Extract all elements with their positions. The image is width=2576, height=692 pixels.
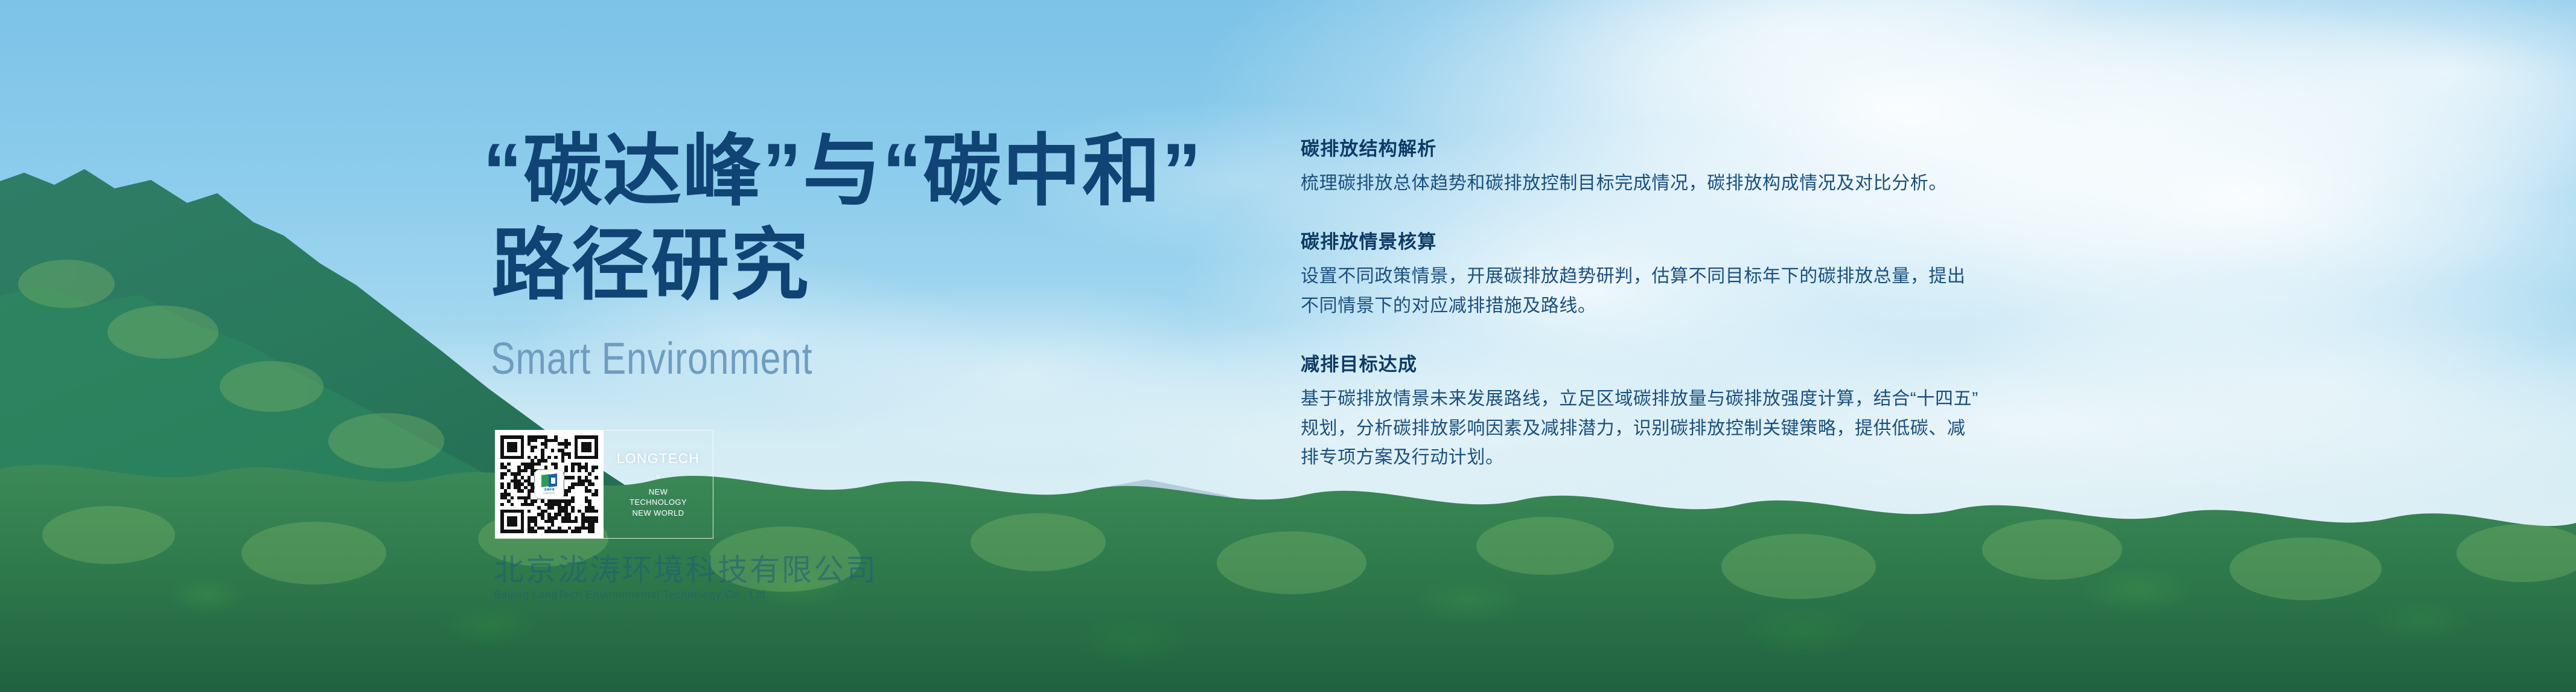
page-subtitle: Smart Environment	[483, 333, 1126, 384]
logo-caption: 泷涛环境 LONGTECH	[543, 488, 555, 495]
info-blocks-column: 碳排放结构解析梳理碳排放总体趋势和碳排放控制目标完成情况，碳排放构成情况及对比分…	[1301, 138, 2194, 473]
page-title-line-1: “碳达峰”与“碳中和”	[483, 124, 1267, 218]
info-body-line: 规划，分析碳排放影响因素及减排潜力，识别碳排放控制关键策略，提供低碳、减	[1301, 414, 2194, 444]
company-signature: 北京泷涛环境科技有限公司 Beijing LongTech Environmen…	[494, 554, 1037, 601]
info-block-body: 基于碳排放情景未来发展路线，立足区域碳排放量与碳排放强度计算，结合“十四五”规划…	[1301, 385, 2194, 473]
info-block-body: 梳理碳排放总体趋势和碳排放控制目标完成情况，碳排放构成情况及对比分析。	[1301, 169, 2194, 199]
brand-separator-icon: ×	[655, 472, 661, 482]
info-body-line: 排专项方案及行动计划。	[1301, 443, 2194, 473]
company-name-cn: 北京泷涛环境科技有限公司	[494, 554, 1037, 586]
info-block-heading: 减排目标达成	[1301, 353, 2194, 377]
qr-brand-group: 泷涛环境 LONGTECH LONGTECH × NEW TECHNOLOGY …	[495, 430, 713, 539]
carbon-peak-banner: “碳达峰”与“碳中和” 路径研究 Smart Environment 泷涛环境 …	[0, 0, 2576, 692]
info-block-heading: 碳排放结构解析	[1301, 138, 2194, 161]
logo-mark-shape	[541, 474, 557, 487]
info-block-body: 设置不同政策情景，开展碳排放趋势研判，估算不同目标年下的碳排放总量，提出不同情景…	[1301, 262, 2194, 321]
page-title-line-2: 路径研究	[483, 218, 1267, 312]
tree-canopy-texture	[0, 438, 2576, 692]
company-name-en: Beijing LongTech Environmental Technolog…	[494, 589, 1037, 601]
brand-slogan: NEW TECHNOLOGY NEW WORLD	[630, 487, 687, 519]
info-body-line: 基于碳排放情景未来发展路线，立足区域碳排放量与碳排放强度计算，结合“十四五”	[1301, 385, 2194, 414]
info-block: 减排目标达成基于碳排放情景未来发展路线，立足区域碳排放量与碳排放强度计算，结合“…	[1301, 353, 2194, 473]
qr-code-card[interactable]: 泷涛环境 LONGTECH	[495, 430, 604, 539]
info-body-line: 不同情景下的对应减排措施及路线。	[1301, 292, 2194, 321]
info-body-line: 梳理碳排放总体趋势和碳排放控制目标完成情况，碳排放构成情况及对比分析。	[1301, 169, 2194, 199]
info-block: 碳排放情景核算设置不同政策情景，开展碳排放趋势研判，估算不同目标年下的碳排放总量…	[1301, 231, 2194, 321]
info-block: 碳排放结构解析梳理碳排放总体趋势和碳排放控制目标完成情况，碳排放构成情况及对比分…	[1301, 138, 2194, 198]
info-body-line: 设置不同政策情景，开展碳排放趋势研判，估算不同目标年下的碳排放总量，提出	[1301, 262, 2194, 292]
longtech-logo-icon: 泷涛环境 LONGTECH	[535, 470, 563, 498]
brand-name: LONGTECH	[617, 450, 700, 467]
info-block-heading: 碳排放情景核算	[1301, 231, 2194, 254]
hero-title-block: “碳达峰”与“碳中和” 路径研究 Smart Environment	[483, 124, 1267, 384]
brand-slogan-panel: LONGTECH × NEW TECHNOLOGY NEW WORLD	[604, 430, 713, 539]
